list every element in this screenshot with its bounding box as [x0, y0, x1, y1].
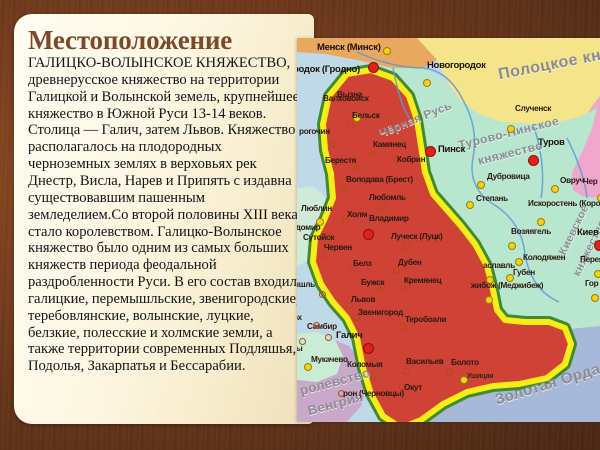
page-title: Местоположение: [28, 26, 306, 54]
map-vector: [297, 38, 600, 422]
slide-canvas: Местоположение ГАЛИЦКО-ВОЛЫНСКОЕ КНЯЖЕСТ…: [0, 0, 600, 450]
historical-map: Полоцкое княжество Турово-Пинское княжес…: [297, 38, 600, 422]
body-paragraph: ГАЛИЦКО-ВОЛЫНСКОЕ КНЯЖЕСТВО, древнерусск…: [28, 55, 306, 375]
content-card: Местоположение ГАЛИЦКО-ВОЛЫНСКОЕ КНЯЖЕСТ…: [14, 14, 314, 424]
